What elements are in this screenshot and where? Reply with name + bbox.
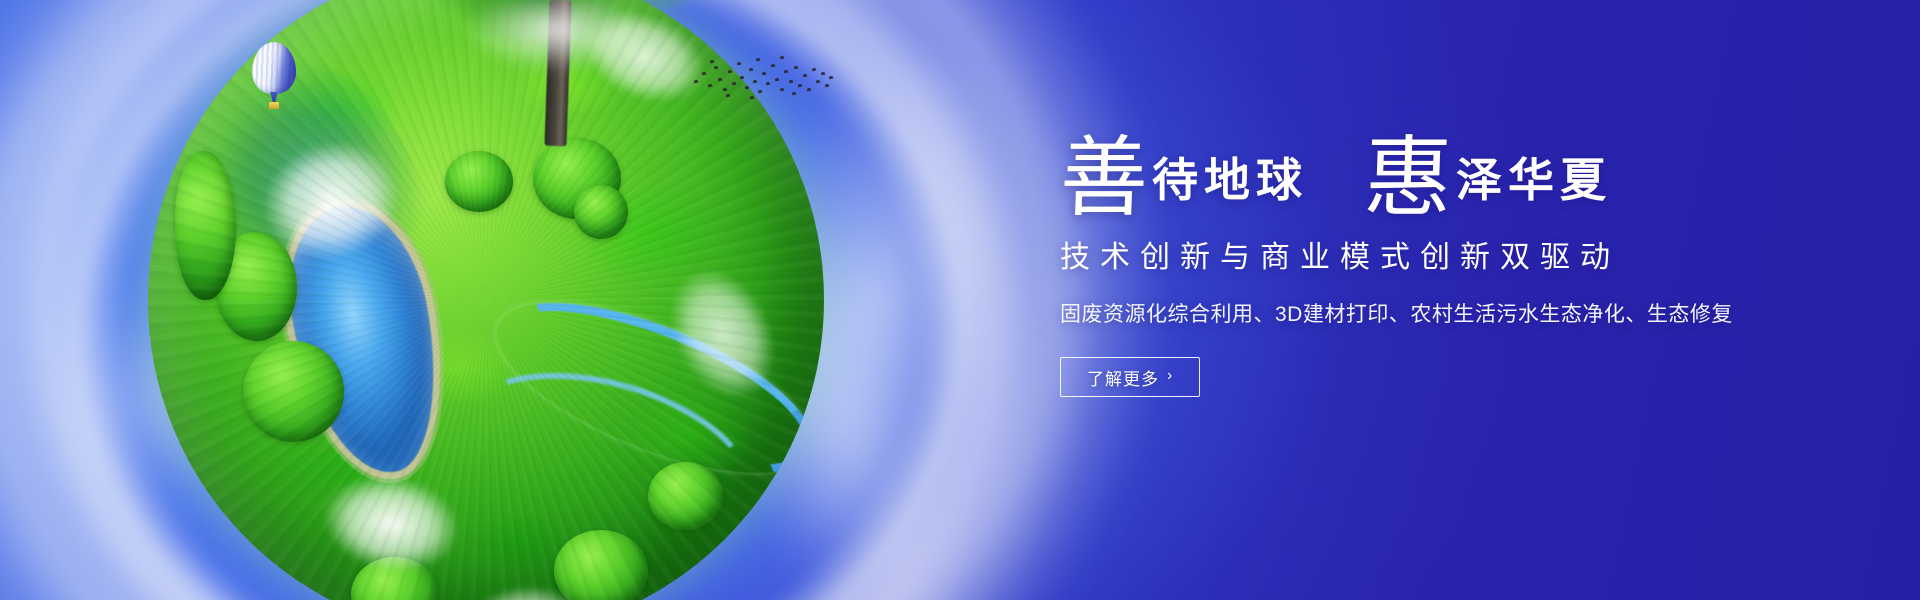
forest-bush xyxy=(574,185,628,239)
bird xyxy=(825,84,830,88)
chevron-right-icon: › xyxy=(1167,368,1173,384)
headline-char-hui: 惠 xyxy=(1362,134,1453,222)
bird xyxy=(740,76,745,80)
bird xyxy=(789,80,794,84)
bird xyxy=(750,96,755,100)
forest-bush xyxy=(445,151,513,212)
learn-more-button[interactable]: 了解更多 › xyxy=(1060,357,1200,397)
bird xyxy=(803,74,808,78)
river-branch xyxy=(444,343,771,568)
bird xyxy=(756,58,761,62)
bird xyxy=(821,72,826,76)
bird xyxy=(771,64,776,68)
bird xyxy=(710,60,715,64)
river xyxy=(476,268,824,507)
bird xyxy=(694,80,699,84)
balloon-basket xyxy=(269,102,279,109)
learn-more-label: 了解更多 xyxy=(1087,365,1159,390)
bird xyxy=(812,68,817,72)
hero-banner: 善 待地球 惠 泽华夏 技术创新与商业模式创新双驱动 固废资源化综合利用、3D建… xyxy=(0,0,1920,600)
bird xyxy=(762,72,767,76)
headline-daidiqiu: 待地球 xyxy=(1152,157,1308,203)
bird xyxy=(723,88,728,92)
bird xyxy=(780,56,785,60)
bird xyxy=(749,68,754,72)
bird xyxy=(784,70,789,74)
forest-bush xyxy=(533,138,621,219)
balloon-envelope xyxy=(252,42,296,94)
bird xyxy=(758,90,763,94)
forest-bush xyxy=(175,151,236,300)
planet-cloud xyxy=(239,116,449,307)
bird xyxy=(753,80,758,84)
bird-flock xyxy=(692,54,832,100)
bird xyxy=(728,70,733,74)
hot-air-balloon-icon xyxy=(252,42,296,114)
bird xyxy=(766,82,771,86)
lake xyxy=(274,196,454,486)
forest-bush xyxy=(243,341,344,442)
bird xyxy=(726,94,731,98)
headline-zehuaxia: 泽华夏 xyxy=(1456,157,1612,203)
forest-bush xyxy=(554,530,649,600)
description: 固废资源化综合利用、3D建材打印、农村生活污水生态净化、生态修复 xyxy=(1060,300,1760,329)
forest-bush xyxy=(216,232,297,340)
bird xyxy=(792,92,797,96)
bird xyxy=(745,86,750,90)
bird xyxy=(816,80,821,84)
mountain-ridge xyxy=(150,28,456,369)
bird xyxy=(737,62,742,66)
bird xyxy=(780,88,785,92)
hero-text-block: 善 待地球 惠 泽华夏 技术创新与商业模式创新双驱动 固废资源化综合利用、3D建… xyxy=(1060,128,1760,397)
bird xyxy=(732,82,737,86)
planet-cloud xyxy=(643,242,824,453)
page-title: 善 待地球 惠 泽华夏 xyxy=(1060,128,1760,224)
subtitle: 技术创新与商业模式创新双驱动 xyxy=(1060,240,1760,276)
bird xyxy=(702,72,707,76)
planet-cloud xyxy=(454,576,612,600)
bird xyxy=(708,84,713,88)
bird xyxy=(794,66,799,70)
headline-char-shan: 善 xyxy=(1058,134,1149,222)
forest-bush xyxy=(648,462,722,530)
planet-cloud xyxy=(301,461,495,600)
bird xyxy=(718,78,723,82)
bird xyxy=(775,78,780,82)
bird xyxy=(714,66,719,70)
forest-bush xyxy=(351,557,439,600)
bird xyxy=(807,88,812,92)
bird xyxy=(798,84,803,88)
